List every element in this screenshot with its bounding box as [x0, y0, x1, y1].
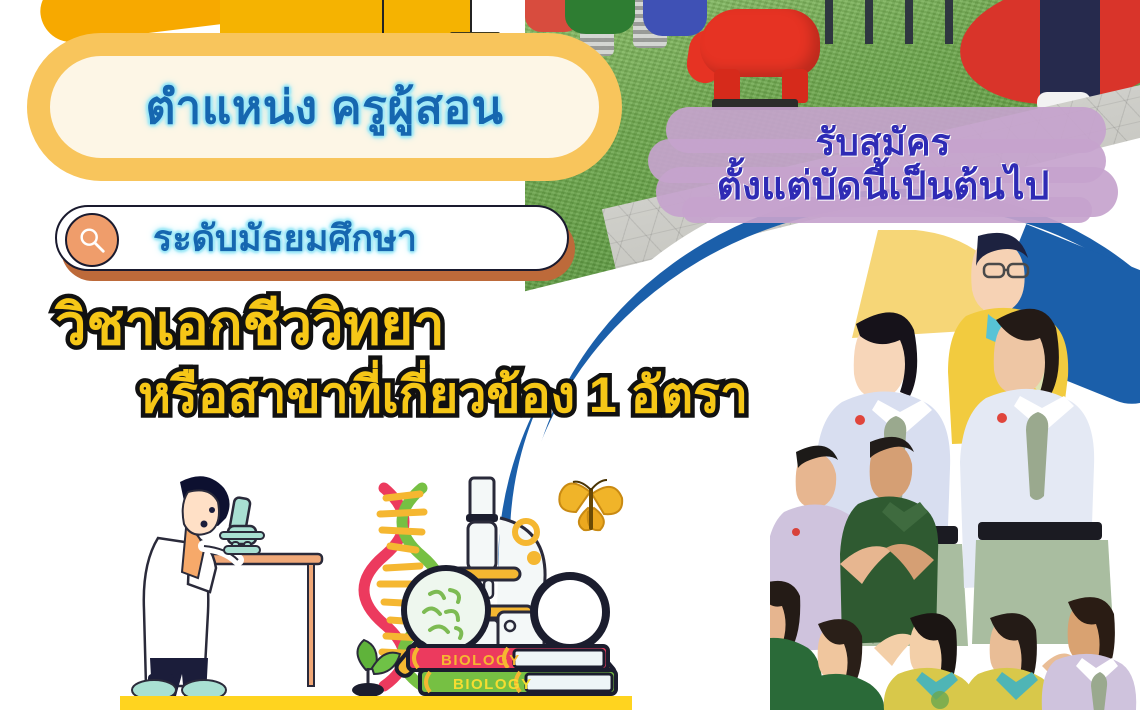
application-period-banner: รับสมัคร ตั้งแต่บัดนี้เป็นต้นไป [648, 105, 1118, 227]
banner-line-apply: รับสมัคร [816, 122, 951, 165]
headline-related-field-count: หรือสาขาที่เกี่ยวข้อง 1 อัตรา [138, 369, 860, 422]
banner-line-period: ตั้งแต่บัดนี้เป็นต้นไป [717, 165, 1050, 210]
plant-sprout-icon [352, 640, 400, 697]
students-photo [770, 230, 1140, 710]
education-level-text: ระดับมัธยมศึกษา [153, 210, 417, 267]
book-label-red: BIOLOGY [441, 652, 521, 669]
education-level-pill[interactable]: ระดับมัธยมศึกษา [55, 205, 575, 283]
child-2 [565, 0, 635, 34]
banner-text-group: รับสมัคร ตั้งแต่บัดนี้เป็นต้นไป [648, 105, 1118, 227]
book-label-green: BIOLOGY [453, 676, 533, 693]
elephant-leg-front [714, 69, 740, 103]
elephant-leg-back [782, 69, 808, 103]
biology-illustration: BIOLOGY BIOLOGY [338, 470, 638, 700]
poster-root: ตำแหน่ง ครูผู้สอน ระดับมัธยมศึกษา วิชาเอ… [0, 0, 1140, 710]
cartoon-outline-b [470, 0, 472, 36]
red-elephant-toy [690, 0, 830, 109]
headline-major-subject: วิชาเอกชีววิทยา [55, 296, 860, 355]
pill-body[interactable]: ระดับมัธยมศึกษา [55, 205, 569, 271]
scientist-illustration [128, 468, 348, 700]
butterfly-icon [559, 480, 622, 530]
elephant-body [700, 9, 820, 77]
search-icon[interactable] [65, 213, 119, 267]
playground-frame [825, 0, 985, 44]
bottom-accent-bar [120, 696, 632, 710]
title-card: ตำแหน่ง ครูผู้สอน [27, 33, 622, 181]
position-title-text: ตำแหน่ง ครูผู้สอน [146, 71, 504, 144]
standing-child-legs [1040, 0, 1100, 99]
headline-block: วิชาเอกชีววิทยา หรือสาขาที่เกี่ยวข้อง 1 … [0, 296, 860, 421]
